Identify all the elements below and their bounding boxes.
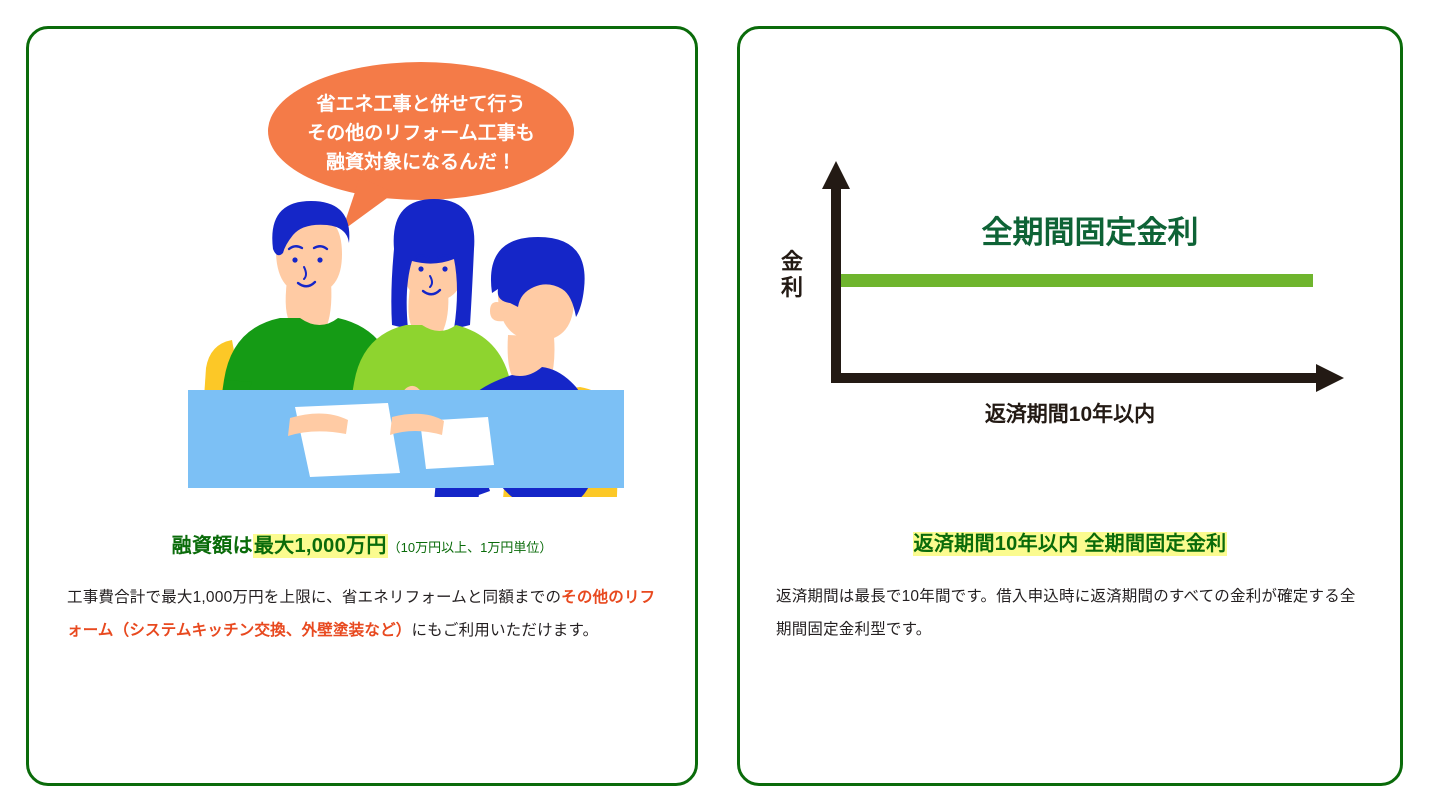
repayment-term-headline: 返済期間10年以内 全期間固定金利 bbox=[740, 531, 1400, 557]
paragraph-segment-normal-1: 工事費合計で最大1,000万円を上限に、省エネリフォームと同額までの bbox=[67, 589, 561, 606]
bubble-line-1: 省エネ工事と併せて行う bbox=[315, 92, 525, 115]
headline-highlight: 最大1,000万円 bbox=[253, 534, 388, 558]
loan-amount-headline: 融資額は最大1,000万円（10万円以上、1万円単位） bbox=[29, 533, 695, 559]
chart-x-axis bbox=[831, 364, 1344, 392]
paragraph-segment-normal-2: にもご利用いただけます。 bbox=[411, 622, 598, 639]
illustration-area: 省エネ工事と併せて行う その他のリフォーム工事も 融資対象になるんだ！ bbox=[29, 29, 695, 499]
bubble-line-2: その他のリフォーム工事も bbox=[307, 121, 534, 144]
chart-y-axis-label-char-2: 利 bbox=[781, 275, 803, 300]
loan-amount-paragraph: 工事費合計で最大1,000万円を上限に、省エネリフォームと同額までのその他のリフ… bbox=[67, 581, 657, 648]
loan-amount-text-block: 融資額は最大1,000万円（10万円以上、1万円単位） 工事費合計で最大1,00… bbox=[29, 499, 695, 648]
bubble-line-3: 融資対象になるんだ！ bbox=[326, 150, 516, 173]
loan-amount-card: 省エネ工事と併せて行う その他のリフォーム工事も 融資対象になるんだ！ bbox=[26, 26, 698, 786]
people-scene bbox=[188, 199, 624, 497]
headline-highlight: 返済期間10年以内 全期間固定金利 bbox=[913, 532, 1228, 556]
chart-y-axis bbox=[822, 161, 850, 383]
chart-series-fixed-rate-line bbox=[841, 274, 1313, 287]
chart-inline-title: 全期間固定金利 bbox=[982, 215, 1199, 250]
fixed-rate-chart-area: 金 利 金利 全期間固定金利 返済期間10年以内 bbox=[740, 29, 1400, 499]
desk bbox=[188, 390, 624, 488]
repayment-term-text-block: 返済期間10年以内 全期間固定金利 返済期間は最長で10年間です。借入申込時に返… bbox=[740, 499, 1400, 646]
three-people-consultation-illustration: 省エネ工事と併せて行う その他のリフォーム工事も 融資対象になるんだ！ bbox=[42, 35, 682, 497]
repayment-term-paragraph: 返済期間は最長で10年間です。借入申込時に返済期間のすべての金利が確定する全期間… bbox=[776, 581, 1364, 646]
page-root: 省エネ工事と併せて行う その他のリフォーム工事も 融資対象になるんだ！ bbox=[0, 0, 1434, 711]
headline-prefix: 融資額は bbox=[172, 535, 253, 557]
fixed-rate-chart: 金 利 金利 全期間固定金利 返済期間10年以内 bbox=[770, 159, 1370, 429]
headline-note: （10万円以上、1万円単位） bbox=[388, 540, 553, 555]
repayment-term-card: 金 利 金利 全期間固定金利 返済期間10年以内 bbox=[737, 26, 1403, 786]
chart-x-axis-caption: 返済期間10年以内 bbox=[985, 402, 1155, 426]
